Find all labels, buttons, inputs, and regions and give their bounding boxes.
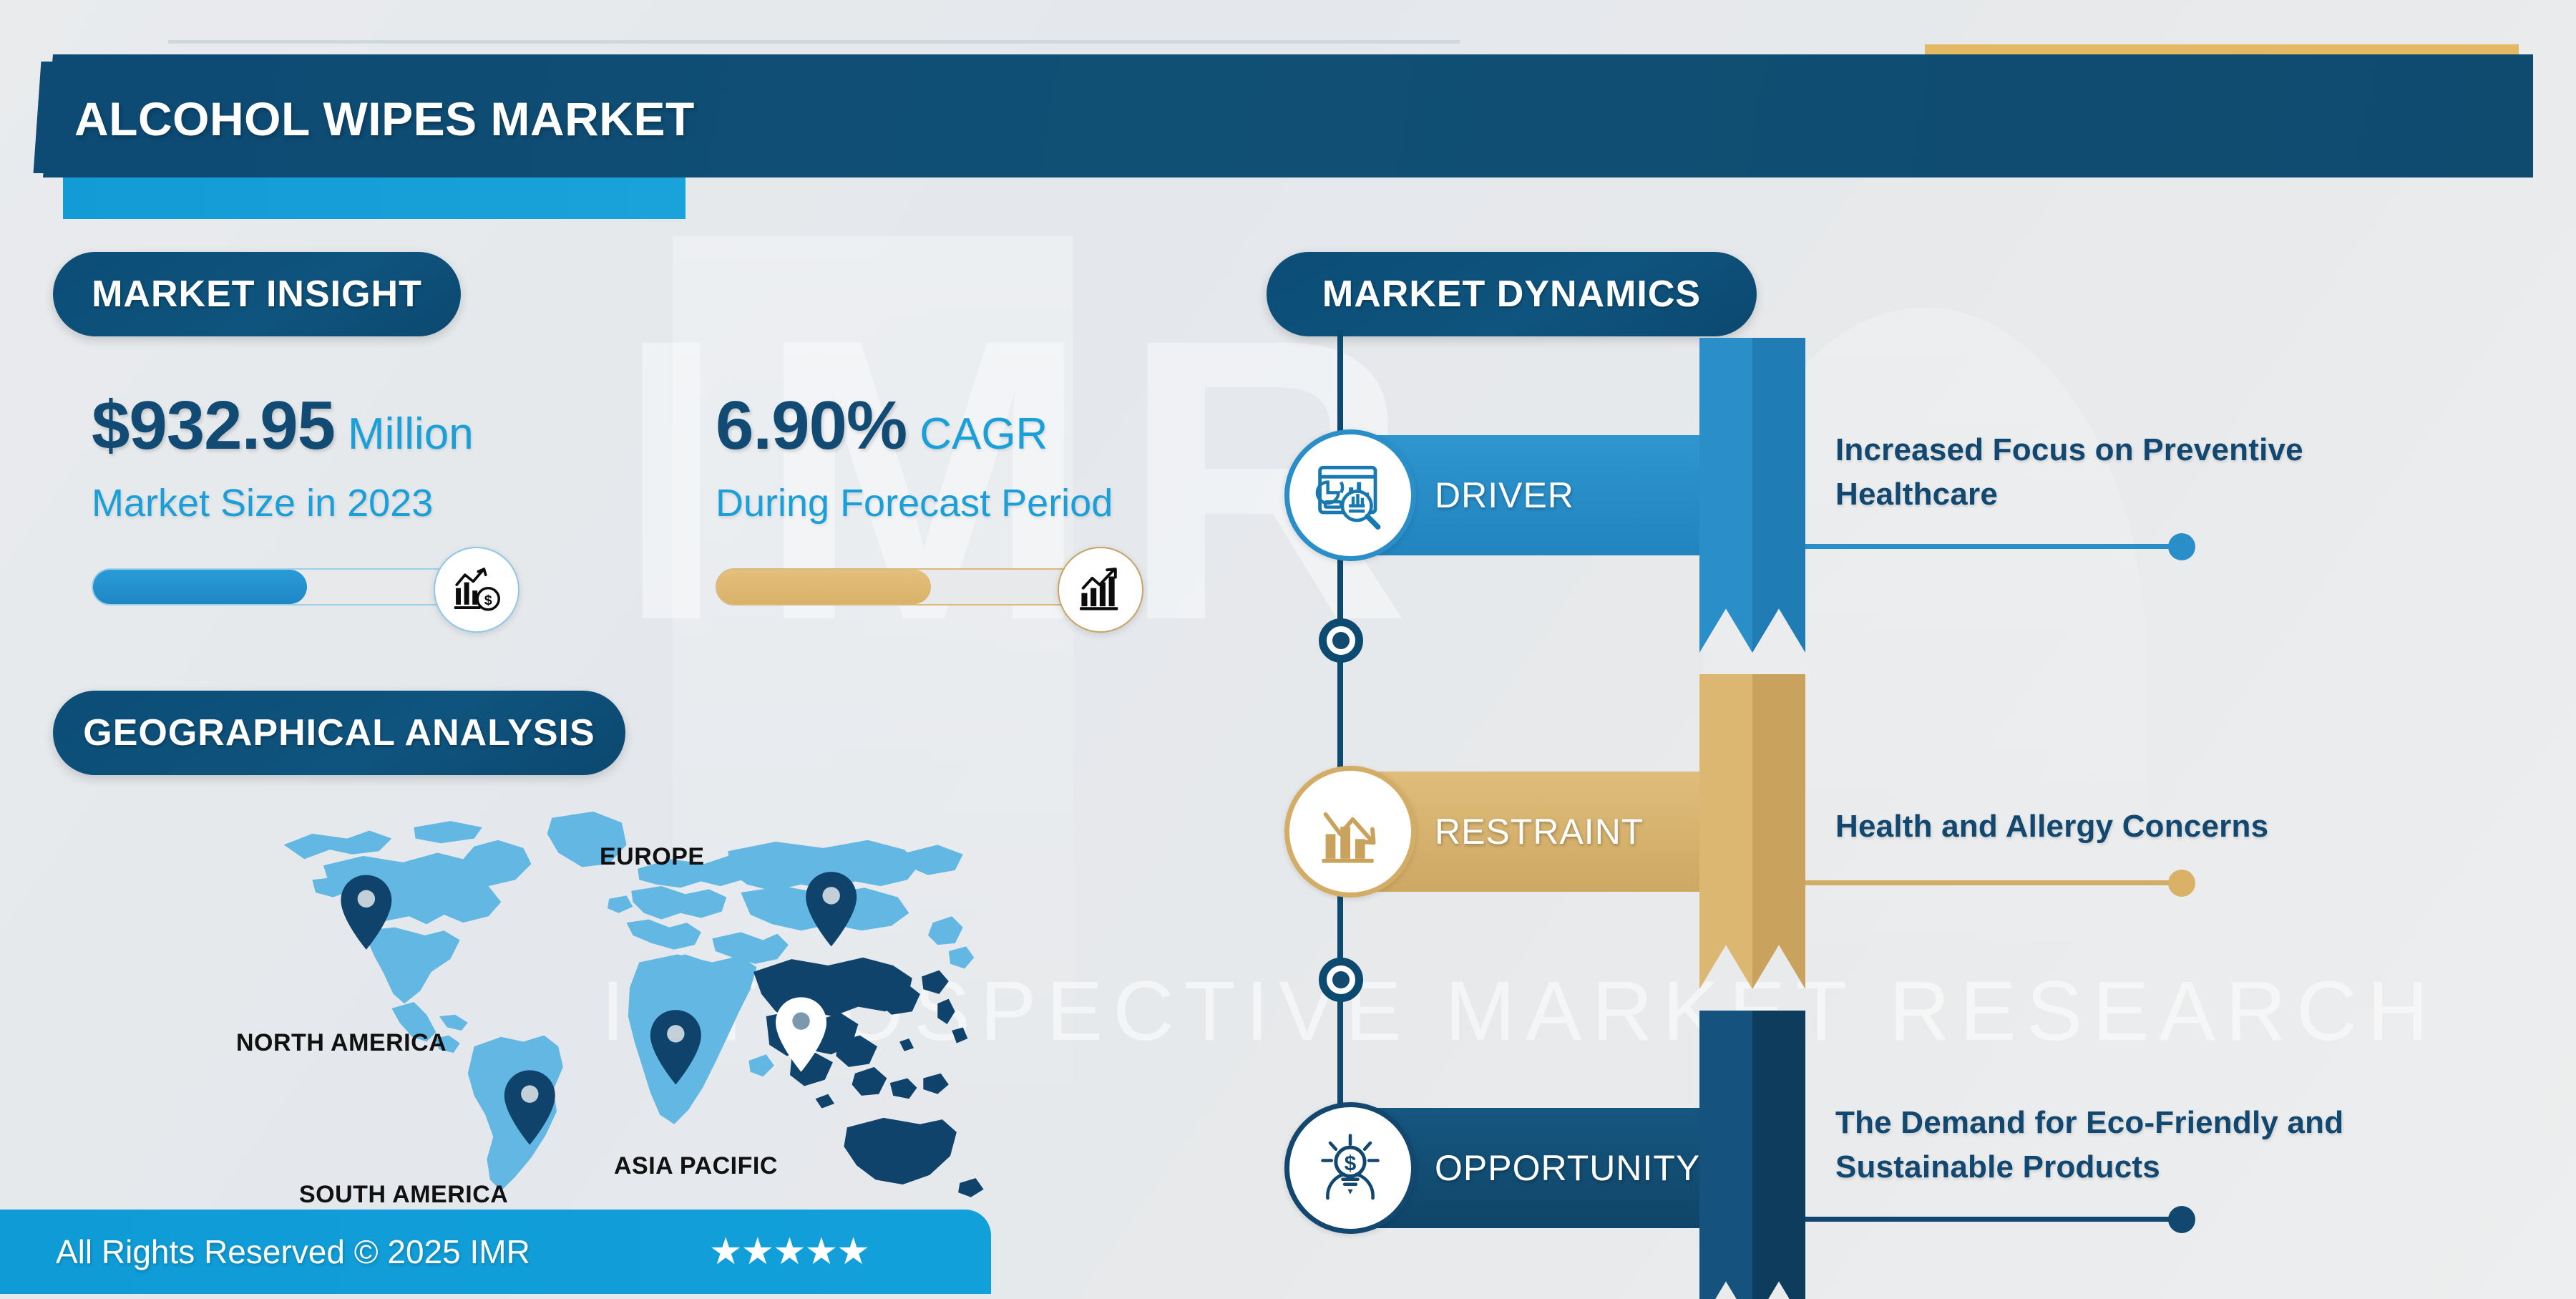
kpi-cagr-unit: CAGR: [919, 409, 1048, 459]
infographic-canvas: IMR INTROSPECTIVE MARKET RESEARCH ALCOHO…: [0, 0, 2576, 1299]
kpi-market-size: $932.95 Million Market Size in 2023: [92, 386, 507, 616]
ribbon-tail: [1699, 674, 1805, 989]
driver-endpoint-dot: [2168, 533, 2195, 560]
section-heading-market-insight: MARKET INSIGHT: [53, 252, 461, 336]
map-label-south-america: SOUTH AMERICA: [299, 1181, 508, 1209]
header-thin-rule: [168, 40, 1460, 44]
opportunity-description-line1: The Demand for Eco-Friendly and: [1835, 1101, 2479, 1145]
restraint-endpoint-dot: [2168, 870, 2195, 897]
driver-rule: [1805, 544, 2180, 549]
map-label-asia-pacific: ASIA PACIFIC: [614, 1152, 778, 1180]
market-dynamics-label: MARKET DYNAMICS: [1322, 273, 1701, 316]
restraint-rule: [1805, 880, 2180, 885]
progress-fill: [93, 570, 307, 604]
header-cyan-accent-bar: [63, 177, 686, 219]
svg-text:$: $: [484, 593, 492, 608]
map-label-north-america: NORTH AMERICA: [236, 1029, 447, 1057]
dynamics-item-driver[interactable]: DRIVER Increased Focus on Preventive Hea…: [1292, 435, 2508, 578]
dynamics-item-restraint[interactable]: RESTRAINT Health and Allergy Concerns: [1292, 772, 2508, 915]
growth-arrow-chart-icon: [1058, 547, 1143, 633]
market-insight-label: MARKET INSIGHT: [92, 273, 422, 316]
lightbulb-dollar-icon: $: [1284, 1102, 1416, 1234]
section-heading-geographical-analysis: GEOGRAPHICAL ANALYSIS: [53, 691, 625, 775]
restraint-description: Health and Allergy Concerns: [1835, 804, 2479, 849]
footer-bar: All Rights Reserved © 2025 IMR ★★★★★: [0, 1210, 991, 1294]
driver-description: Increased Focus on Preventive Healthcare: [1835, 428, 2422, 517]
kpi-market-size-caption: Market Size in 2023: [92, 481, 507, 525]
map-label-europe: EUROPE: [600, 843, 705, 871]
declining-bar-chart-icon: [1284, 766, 1416, 897]
kpi-market-size-progress: $: [92, 560, 507, 616]
opportunity-description: The Demand for Eco-Friendly and Sustaina…: [1835, 1101, 2479, 1190]
bar-chart-dollar-icon: $: [434, 547, 519, 633]
copyright-text: All Rights Reserved © 2025 IMR: [56, 1232, 530, 1271]
restraint-description-line1: Health and Allergy Concerns: [1835, 804, 2479, 849]
opportunity-description-line2: Sustainable Products: [1835, 1145, 2479, 1189]
page-title: ALCOHOL WIPES MARKET: [74, 92, 695, 146]
kpi-cagr-progress: [716, 560, 1131, 616]
dynamics-item-opportunity[interactable]: $ OPPORTUNITY The Demand for Eco-Friendl…: [1292, 1108, 2508, 1251]
kpi-market-size-value: $932.95: [92, 386, 335, 465]
progress-fill: [717, 570, 931, 604]
kpi-cagr-value: 6.90%: [716, 386, 907, 465]
star-rating-icon: ★★★★★: [709, 1230, 869, 1273]
driver-description-line1: Increased Focus on Preventive: [1835, 428, 2422, 472]
svg-text:$: $: [1345, 1152, 1357, 1176]
driver-description-line2: Healthcare: [1835, 472, 2422, 517]
section-heading-market-dynamics: MARKET DYNAMICS: [1267, 252, 1757, 336]
ribbon-tail: [1699, 338, 1805, 653]
opportunity-rule: [1805, 1217, 2180, 1222]
opportunity-endpoint-dot: [2168, 1206, 2195, 1233]
geographical-analysis-label: GEOGRAPHICAL ANALYSIS: [83, 711, 595, 754]
analytics-magnifier-icon: [1284, 429, 1416, 561]
ribbon-tail: [1699, 1011, 1805, 1299]
dynamics-connector-node: [1319, 618, 1363, 663]
kpi-cagr: 6.90% CAGR During Forecast Period: [716, 386, 1131, 616]
driver-label: DRIVER: [1435, 435, 1574, 555]
kpi-cagr-caption: During Forecast Period: [716, 481, 1131, 525]
kpi-market-size-unit: Million: [348, 409, 474, 459]
world-map: NORTH AMERICA EUROPE ASIA PACIFIC SOUTH …: [236, 802, 1038, 1202]
restraint-label: RESTRAINT: [1435, 772, 1644, 892]
opportunity-label: OPPORTUNITY: [1435, 1108, 1700, 1228]
dynamics-connector-node: [1319, 958, 1363, 1002]
